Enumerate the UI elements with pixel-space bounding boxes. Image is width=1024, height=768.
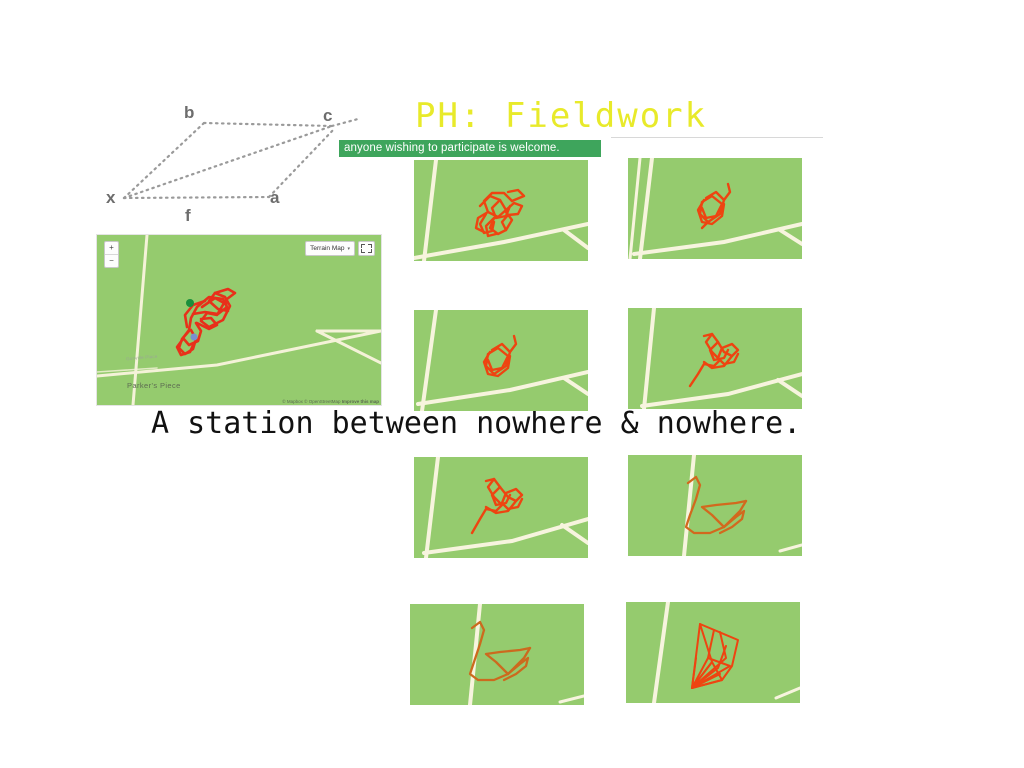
gps-trace-tile-2[interactable] — [628, 158, 802, 259]
map-attribution[interactable]: © Mapbox © OpenStreetMap Improve this ma… — [282, 399, 379, 404]
map-base-layer — [97, 235, 381, 405]
map-style-selector[interactable]: Terrain Map▾ — [305, 241, 355, 256]
diagram-vertex-x: x — [106, 188, 115, 208]
map-zoom-in-button[interactable]: + — [105, 242, 118, 255]
diagram-svg — [92, 86, 392, 236]
track-end-marker — [191, 334, 198, 341]
gps-trace-tile-4[interactable] — [628, 308, 802, 409]
map-zoom-control[interactable]: + − — [104, 241, 119, 268]
gps-trace-tile-1[interactable] — [414, 160, 588, 261]
page-title: PH: Fieldwork — [415, 96, 707, 136]
map-zoom-out-button[interactable]: − — [105, 255, 118, 267]
dotted-quadrilateral-diagram: b c x a f — [92, 86, 392, 236]
chevron-down-icon: ▾ — [347, 246, 350, 252]
fullscreen-icon[interactable] — [358, 241, 375, 256]
gps-trace-tile-8[interactable] — [626, 602, 800, 703]
slide-canvas: PH: Fieldwork b c x a f anyone wishing t… — [0, 0, 1024, 768]
slide-caption: A station between nowhere & nowhere. — [151, 406, 801, 441]
participation-banner: anyone wishing to participate is welcome… — [339, 140, 601, 157]
gps-trace-tile-7[interactable] — [410, 604, 584, 705]
map-improve-link[interactable]: Improve this map — [342, 399, 379, 404]
diagram-edge-label-f: f — [185, 206, 191, 226]
gps-trace-tile-3[interactable] — [414, 310, 588, 411]
diagram-vertex-a: a — [270, 188, 279, 208]
title-divider — [611, 137, 823, 138]
diagram-vertex-b: b — [184, 103, 194, 123]
fieldwork-overview-map[interactable]: + − Terrain Map▾ Gonville Place Parker's… — [96, 234, 382, 406]
gps-trace-tile-6[interactable] — [628, 455, 802, 556]
map-place-label: Parker's Piece — [127, 381, 181, 390]
map-attribution-text: © Mapbox © OpenStreetMap — [282, 399, 340, 404]
diagram-vertex-c: c — [323, 106, 332, 126]
track-start-marker — [186, 299, 194, 307]
map-style-label: Terrain Map — [310, 245, 344, 252]
gps-trace-tile-5[interactable] — [414, 457, 588, 558]
